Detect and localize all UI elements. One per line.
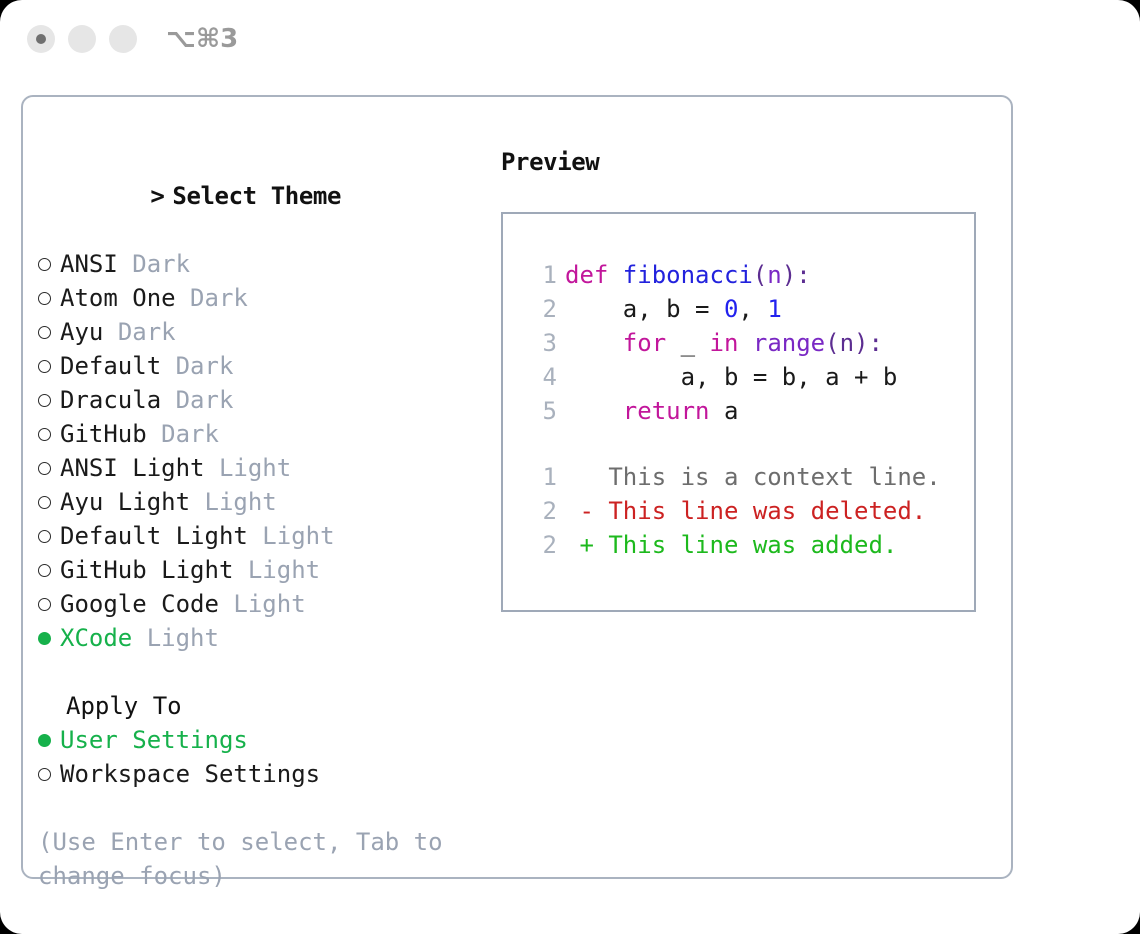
theme-list-item[interactable]: ANSI Dark <box>38 247 488 281</box>
code-line: 4 a, b = b, a + b <box>503 360 974 394</box>
code-token: for <box>623 329 666 357</box>
theme-kind-badge: Light <box>147 624 219 652</box>
code-token: a, b = <box>623 295 724 323</box>
theme-list-item[interactable]: Default Dark <box>38 349 488 383</box>
theme-name: Atom One <box>60 284 176 312</box>
radio-unselected-icon <box>38 485 60 519</box>
radio-unselected-icon <box>38 587 60 621</box>
apply-to-option-label: Workspace Settings <box>60 760 320 788</box>
theme-name: Default Light <box>60 522 248 550</box>
theme-kind-badge: Dark <box>118 318 176 346</box>
code-token: (n): <box>825 329 883 357</box>
theme-kind-badge: Light <box>233 590 305 618</box>
title-bar: ⌥⌘3 <box>0 0 1140 78</box>
radio-selected-icon <box>38 723 60 757</box>
code-line: 5 return a <box>503 394 974 428</box>
apply-to-option-label: User Settings <box>60 726 248 754</box>
theme-list: ANSI DarkAtom One DarkAyu DarkDefault Da… <box>38 247 488 655</box>
apply-to-heading: Apply To <box>38 689 488 723</box>
code-token: , <box>738 295 767 323</box>
theme-kind-badge: Light <box>205 488 277 516</box>
diff-text: This line was added. <box>608 531 897 559</box>
plain-dot-icon-2[interactable] <box>109 25 137 53</box>
code-token: _ <box>666 329 709 357</box>
theme-name: GitHub Light <box>60 556 233 584</box>
code-token: range <box>753 329 825 357</box>
theme-name: Google Code <box>60 590 219 618</box>
theme-picker-column: >Select Theme ANSI DarkAtom One DarkAyu … <box>38 145 488 893</box>
theme-list-item[interactable]: Default Light Light <box>38 519 488 553</box>
diff-sample: 1 This is a context line.2 - This line w… <box>503 460 974 562</box>
code-token: 0 <box>724 295 738 323</box>
code-line: 3 for _ in range(n): <box>503 326 974 360</box>
theme-name: Default <box>60 352 161 380</box>
record-dot-icon[interactable] <box>27 25 55 53</box>
theme-list-item[interactable]: Dracula Dark <box>38 383 488 417</box>
plain-dot-icon-1[interactable] <box>68 25 96 53</box>
diff-line: 2 - This line was deleted. <box>503 494 974 528</box>
line-number: 3 <box>523 326 557 360</box>
select-theme-heading: >Select Theme <box>38 145 488 247</box>
theme-name: XCode <box>60 624 132 652</box>
diff-line-number: 2 <box>523 528 557 562</box>
radio-selected-icon <box>38 621 60 655</box>
list-gap <box>38 655 488 689</box>
theme-name: Ayu Light <box>60 488 190 516</box>
diff-line-number: 2 <box>523 494 557 528</box>
line-number: 5 <box>523 394 557 428</box>
radio-unselected-icon <box>38 519 60 553</box>
theme-list-item[interactable]: ANSI Light Light <box>38 451 488 485</box>
theme-list-item[interactable]: Ayu Dark <box>38 315 488 349</box>
code-token <box>738 329 752 357</box>
theme-list-item[interactable]: Atom One Dark <box>38 281 488 315</box>
theme-kind-badge: Dark <box>190 284 248 312</box>
theme-list-item[interactable]: Google Code Light <box>38 587 488 621</box>
radio-unselected-icon <box>38 553 60 587</box>
radio-unselected-icon <box>38 281 60 315</box>
select-theme-heading-label: Select Theme <box>172 182 341 210</box>
theme-kind-badge: Light <box>219 454 291 482</box>
radio-unselected-icon <box>38 349 60 383</box>
code-token: a <box>710 397 739 425</box>
apply-to-option[interactable]: User Settings <box>38 723 488 757</box>
theme-list-item[interactable]: GitHub Light Light <box>38 553 488 587</box>
theme-kind-badge: Light <box>262 522 334 550</box>
theme-kind-badge: Light <box>248 556 320 584</box>
code-token: return <box>623 397 710 425</box>
line-number: 1 <box>523 258 557 292</box>
code-line: 2 a, b = 0, 1 <box>503 292 974 326</box>
diff-text: This is a context line. <box>608 463 940 491</box>
code-token: def <box>565 261 623 289</box>
preview-column: Preview 1def fibonacci(n):2 a, b = 0, 13… <box>501 145 1001 612</box>
radio-unselected-icon <box>38 383 60 417</box>
theme-name: Dracula <box>60 386 161 414</box>
traffic-light-buttons <box>27 25 137 53</box>
theme-list-item[interactable]: Ayu Light Light <box>38 485 488 519</box>
diff-sign <box>565 463 608 491</box>
theme-name: ANSI Light <box>60 454 205 482</box>
code-token: n <box>767 261 781 289</box>
code-token: in <box>710 329 739 357</box>
code-token: ): <box>782 261 811 289</box>
theme-name: GitHub <box>60 420 147 448</box>
theme-name: Ayu <box>60 318 103 346</box>
theme-kind-badge: Dark <box>132 250 190 278</box>
code-line: 1def fibonacci(n): <box>503 258 974 292</box>
line-number: 2 <box>523 292 557 326</box>
preview-box: 1def fibonacci(n):2 a, b = 0, 13 for _ i… <box>501 212 976 612</box>
code-token: a, b = b, a + b <box>681 363 898 391</box>
apply-to-options: User SettingsWorkspace Settings <box>38 723 488 791</box>
diff-line-number: 1 <box>523 460 557 494</box>
keyboard-hint-text: (Use Enter to select, Tab to change focu… <box>38 825 448 893</box>
code-token: fibonacci <box>623 261 753 289</box>
radio-unselected-icon <box>38 247 60 281</box>
diff-sign: - <box>565 497 608 525</box>
terminal-window: ⌥⌘3 >Select Theme ANSI DarkAtom One Dark… <box>0 0 1140 934</box>
radio-unselected-icon <box>38 417 60 451</box>
radio-unselected-icon <box>38 451 60 485</box>
diff-line: 2 + This line was added. <box>503 528 974 562</box>
code-token: ( <box>753 261 767 289</box>
theme-kind-badge: Dark <box>176 352 234 380</box>
code-sample: 1def fibonacci(n):2 a, b = 0, 13 for _ i… <box>503 258 974 428</box>
line-number: 4 <box>523 360 557 394</box>
keyboard-shortcut-label: ⌥⌘3 <box>166 22 238 56</box>
theme-list-item[interactable]: GitHub Dark <box>38 417 488 451</box>
radio-unselected-icon <box>38 757 60 791</box>
preview-title: Preview <box>501 145 1001 179</box>
code-diff-gap <box>503 428 974 460</box>
heading-caret: > <box>150 179 172 213</box>
theme-name: ANSI <box>60 250 118 278</box>
diff-sign: + <box>565 531 608 559</box>
theme-kind-badge: Dark <box>161 420 219 448</box>
diff-text: This line was deleted. <box>608 497 926 525</box>
code-token: 1 <box>767 295 781 323</box>
diff-line: 1 This is a context line. <box>503 460 974 494</box>
theme-kind-badge: Dark <box>176 386 234 414</box>
theme-list-item[interactable]: XCode Light <box>38 621 488 655</box>
apply-to-option[interactable]: Workspace Settings <box>38 757 488 791</box>
hint-gap <box>38 791 488 825</box>
radio-unselected-icon <box>38 315 60 349</box>
tui-panel: >Select Theme ANSI DarkAtom One DarkAyu … <box>21 95 1013 879</box>
